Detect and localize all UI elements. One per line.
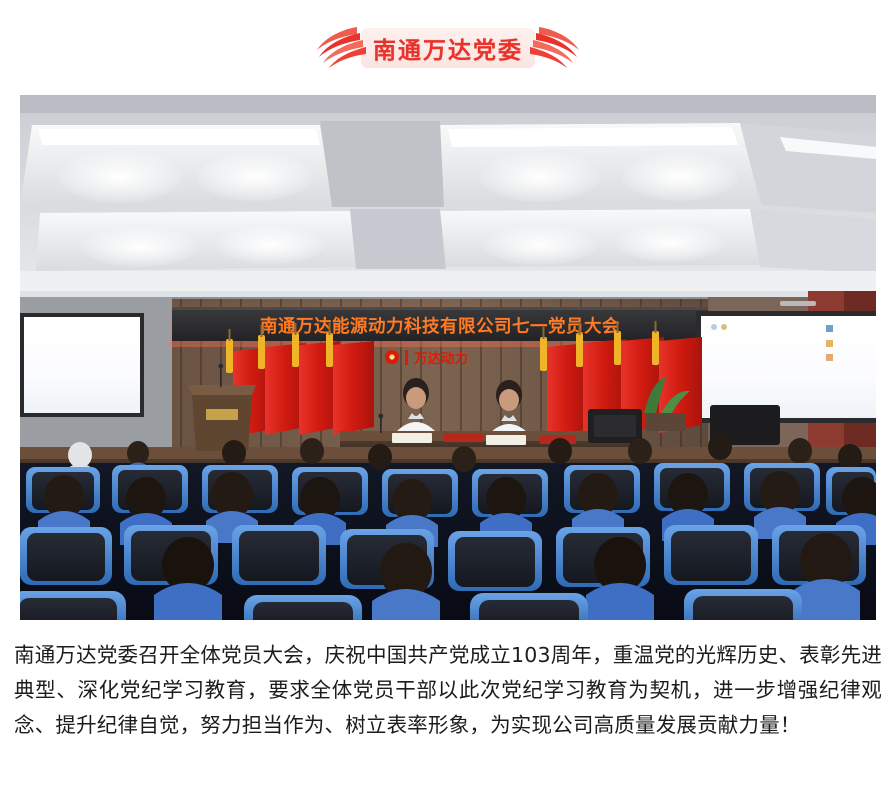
page-header: 南通万达党委 (0, 0, 896, 95)
svg-text:万达动力: 万达动力 (413, 350, 468, 367)
ribbon-swoosh-left-icon (313, 25, 375, 71)
meeting-photo-illustration: 南通万达能源动力科技有限公司七一党员大会 万达动力 (20, 95, 876, 620)
header-banner: 南通万达党委 (313, 25, 583, 71)
led-banner-text: 南通万达能源动力科技有限公司七一党员大会 (260, 316, 620, 337)
ribbon-swoosh-right-icon (521, 25, 583, 71)
article-paragraph: 南通万达党委召开全体党员大会，庆祝中国共产党成立103周年，重温党的光辉历史、表… (14, 638, 882, 743)
meeting-photo: 南通万达能源动力科技有限公司七一党员大会 万达动力 (20, 95, 876, 620)
article-page: 南通万达党委 (0, 0, 896, 792)
page-title: 南通万达党委 (373, 31, 523, 65)
projection-screen-left (20, 313, 144, 417)
